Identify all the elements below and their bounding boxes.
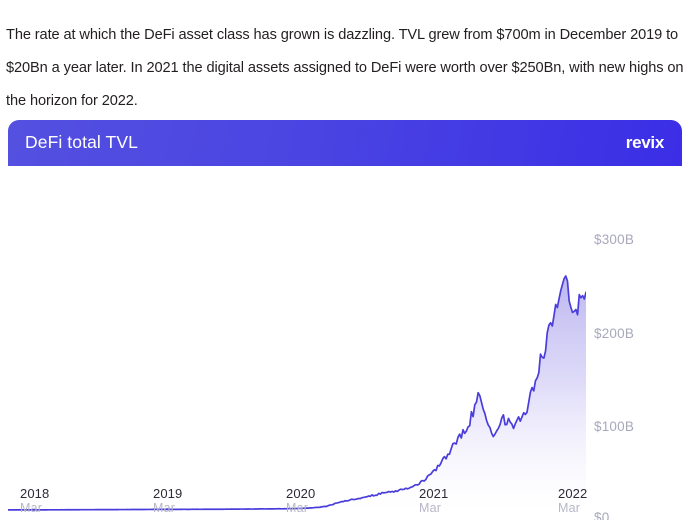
y-tick-300b: $300B <box>594 232 634 247</box>
tvl-chart-svg <box>8 166 586 520</box>
y-tick-200b: $200B <box>594 326 634 341</box>
x-tick-2021-year: 2021 <box>419 486 448 501</box>
x-tick-2021: 2021 Mar <box>419 486 448 516</box>
chart-header: DeFi total TVL revix <box>8 120 682 166</box>
tvl-area-fill <box>8 276 586 510</box>
x-tick-2022-year: 2022 <box>558 486 587 501</box>
x-tick-2022: 2022 Mar <box>558 486 587 516</box>
x-tick-2018: 2018 Mar <box>20 486 49 516</box>
defi-tvl-figure: The rate at which the DeFi asset class h… <box>0 0 690 529</box>
x-tick-2018-month: Mar <box>20 501 49 516</box>
x-tick-2019: 2019 Mar <box>153 486 182 516</box>
revix-logo: revix <box>626 133 664 153</box>
chart-plot-area: $300B $200B $100B $0 <box>8 166 682 520</box>
x-tick-2020: 2020 Mar <box>286 486 315 516</box>
chart-title: DeFi total TVL <box>25 132 138 153</box>
x-tick-2019-month: Mar <box>153 501 182 516</box>
x-tick-2022-month: Mar <box>558 501 587 516</box>
x-axis: 2018 Mar 2019 Mar 2020 Mar 2021 Mar 2022… <box>0 486 690 526</box>
y-tick-100b: $100B <box>594 419 634 434</box>
tvl-area-chart <box>8 166 586 520</box>
x-tick-2018-year: 2018 <box>20 486 49 501</box>
x-tick-2020-month: Mar <box>286 501 315 516</box>
y-axis: $300B $200B $100B $0 <box>594 166 682 520</box>
chart-card: DeFi total TVL revix <box>8 120 682 520</box>
intro-paragraph: The rate at which the DeFi asset class h… <box>6 19 684 118</box>
x-tick-2020-year: 2020 <box>286 486 315 501</box>
x-tick-2021-month: Mar <box>419 501 448 516</box>
x-tick-2019-year: 2019 <box>153 486 182 501</box>
